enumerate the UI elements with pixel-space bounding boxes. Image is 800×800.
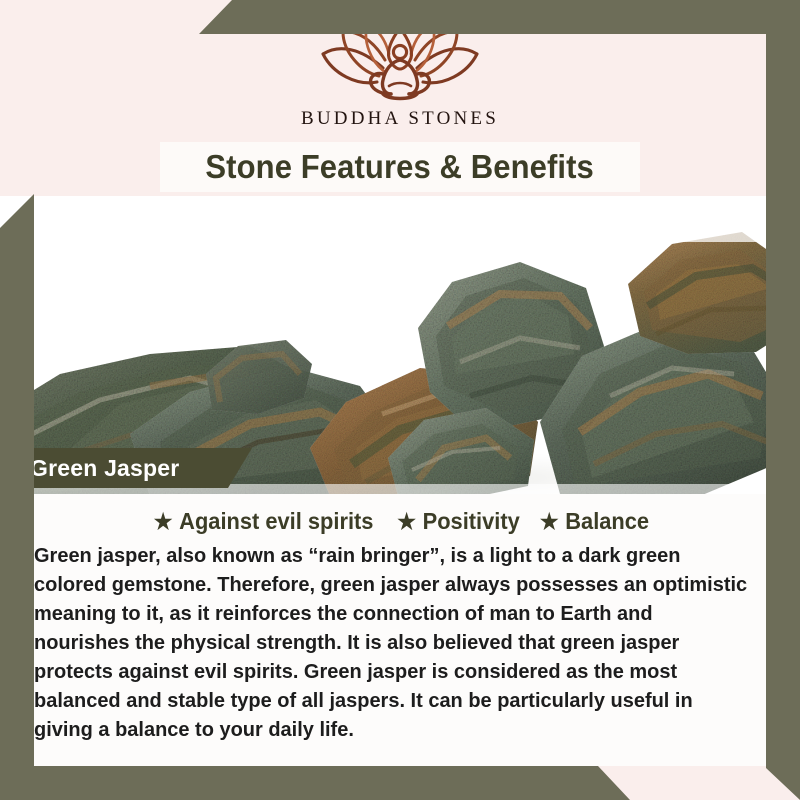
star-icon: ★: [540, 511, 559, 533]
benefit-item-3: ★ Balance: [540, 508, 649, 535]
benefit-label-1: Against evil spirits: [180, 508, 374, 535]
description-paragraph: Green jasper, also known as “rain bringe…: [34, 541, 752, 744]
frame-right: [766, 0, 800, 800]
content-area: ★ Against evil spirits ★ Positivity ★ Ba…: [0, 494, 800, 766]
page-title: Stone Features & Benefits: [160, 142, 640, 192]
benefit-item-1: ★ Against evil spirits: [154, 508, 374, 535]
star-icon: ★: [154, 511, 173, 533]
benefit-label-3: Balance: [565, 508, 649, 535]
benefits-row: ★ Against evil spirits ★ Positivity ★ Ba…: [0, 494, 800, 535]
benefit-label-2: Positivity: [422, 508, 519, 535]
brand-logo: BUDDHA STONES: [0, 24, 800, 130]
stone-name-banner: Green Jasper: [0, 448, 252, 488]
star-icon: ★: [397, 511, 416, 533]
brand-name: BUDDHA STONES: [301, 108, 499, 130]
page-title-text: Stone Features & Benefits: [206, 148, 594, 186]
infographic-page: BUDDHA STONES Stone Features & Benefits …: [0, 0, 800, 800]
stone-name-text: Green Jasper: [30, 455, 179, 482]
lotus-meditation-icon: [315, 24, 485, 104]
benefit-item-2: ★ Positivity: [397, 508, 520, 535]
